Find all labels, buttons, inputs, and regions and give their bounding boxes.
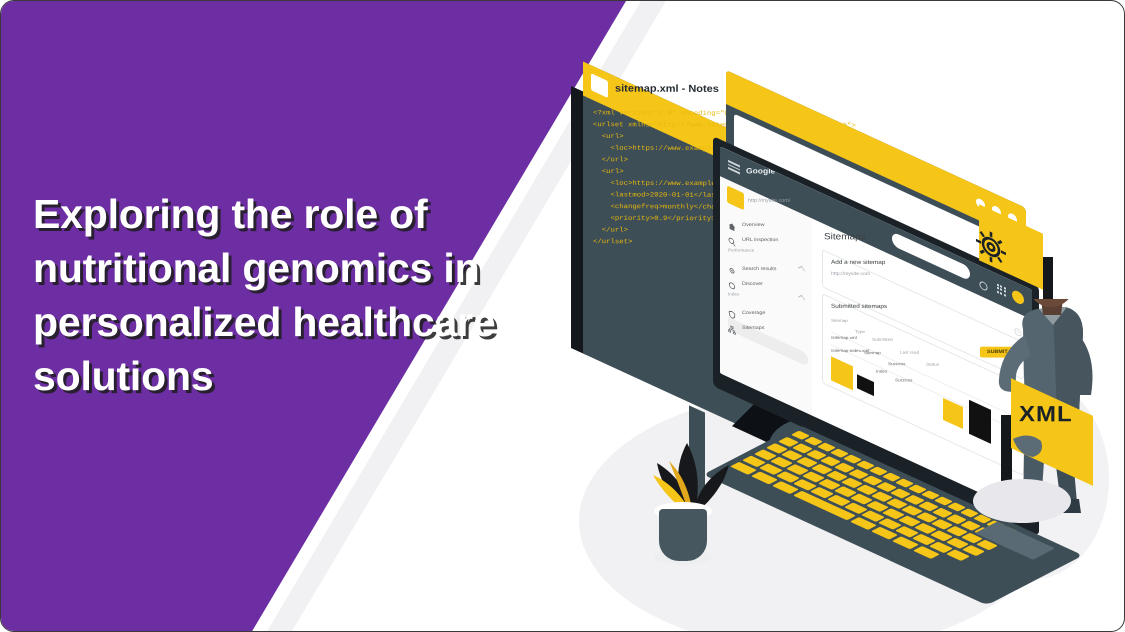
- gsc-sidebar: http://mysite.com/ Overview URL inspecti…: [720, 176, 813, 416]
- sitemap-url-prefix: http://mysite.com: [831, 271, 870, 277]
- gear-icon: [728, 260, 736, 272]
- sidebar-section-performance: Performance: [728, 248, 754, 253]
- editor-file-icon: [591, 73, 608, 98]
- col-header: Sitemap: [831, 318, 848, 326]
- slide-canvas: Exploring the role of nutritional genomi…: [0, 0, 1125, 632]
- sidebar-label: Sitemaps: [742, 325, 764, 330]
- cell: Success: [895, 377, 912, 382]
- cell: /sitemap-index.xml: [831, 348, 869, 353]
- person-foot-shadow: [973, 479, 1071, 523]
- col-header: Last read: [900, 350, 919, 358]
- hamburger-menu-icon[interactable]: [728, 160, 740, 175]
- sitemap-icon: [728, 319, 736, 331]
- sidebar-label: Discover: [742, 281, 763, 286]
- cell: /sitemap.xml: [831, 335, 857, 340]
- chevron-icon[interactable]: [798, 295, 805, 302]
- add-sitemap-title: Add a new sitemap: [831, 259, 885, 266]
- person-right-hand: [1011, 431, 1071, 481]
- submitted-sitemaps-title: Submitted sitemaps: [831, 303, 887, 310]
- xml-card-label: XML: [1019, 402, 1073, 428]
- property-url: http://mysite.com/: [748, 198, 790, 204]
- compass-icon: [728, 275, 736, 287]
- home-icon: [728, 216, 736, 228]
- shield-icon: [728, 304, 736, 316]
- hero-illustration: sitemap.xml - Notes <?xml version="1.0" …: [561, 111, 1121, 611]
- sidebar-label: Overview: [742, 222, 764, 227]
- chevron-icon[interactable]: [798, 266, 805, 273]
- col-header: Status: [926, 362, 939, 370]
- sidebar-label: Coverage: [742, 310, 765, 315]
- cell: Success: [888, 361, 905, 366]
- gsc-page-title: Sitemaps: [824, 232, 866, 242]
- decorative-block: [857, 374, 874, 396]
- cell: Index: [876, 369, 887, 374]
- search-icon: [728, 231, 736, 243]
- add-sitemap-url[interactable]: http://mysite.com: [831, 271, 870, 277]
- property-icon: [727, 185, 744, 210]
- sidebar-section-index: Index: [728, 292, 739, 297]
- sidebar-label: URL inspection: [742, 237, 778, 243]
- sidebar-label: Search results: [742, 266, 776, 272]
- plant-pot: [659, 509, 707, 561]
- page-title: Exploring the role of nutritional genomi…: [33, 187, 618, 403]
- editor-window-title: sitemap.xml - Notes: [615, 83, 719, 94]
- col-header: Submitted: [872, 337, 893, 345]
